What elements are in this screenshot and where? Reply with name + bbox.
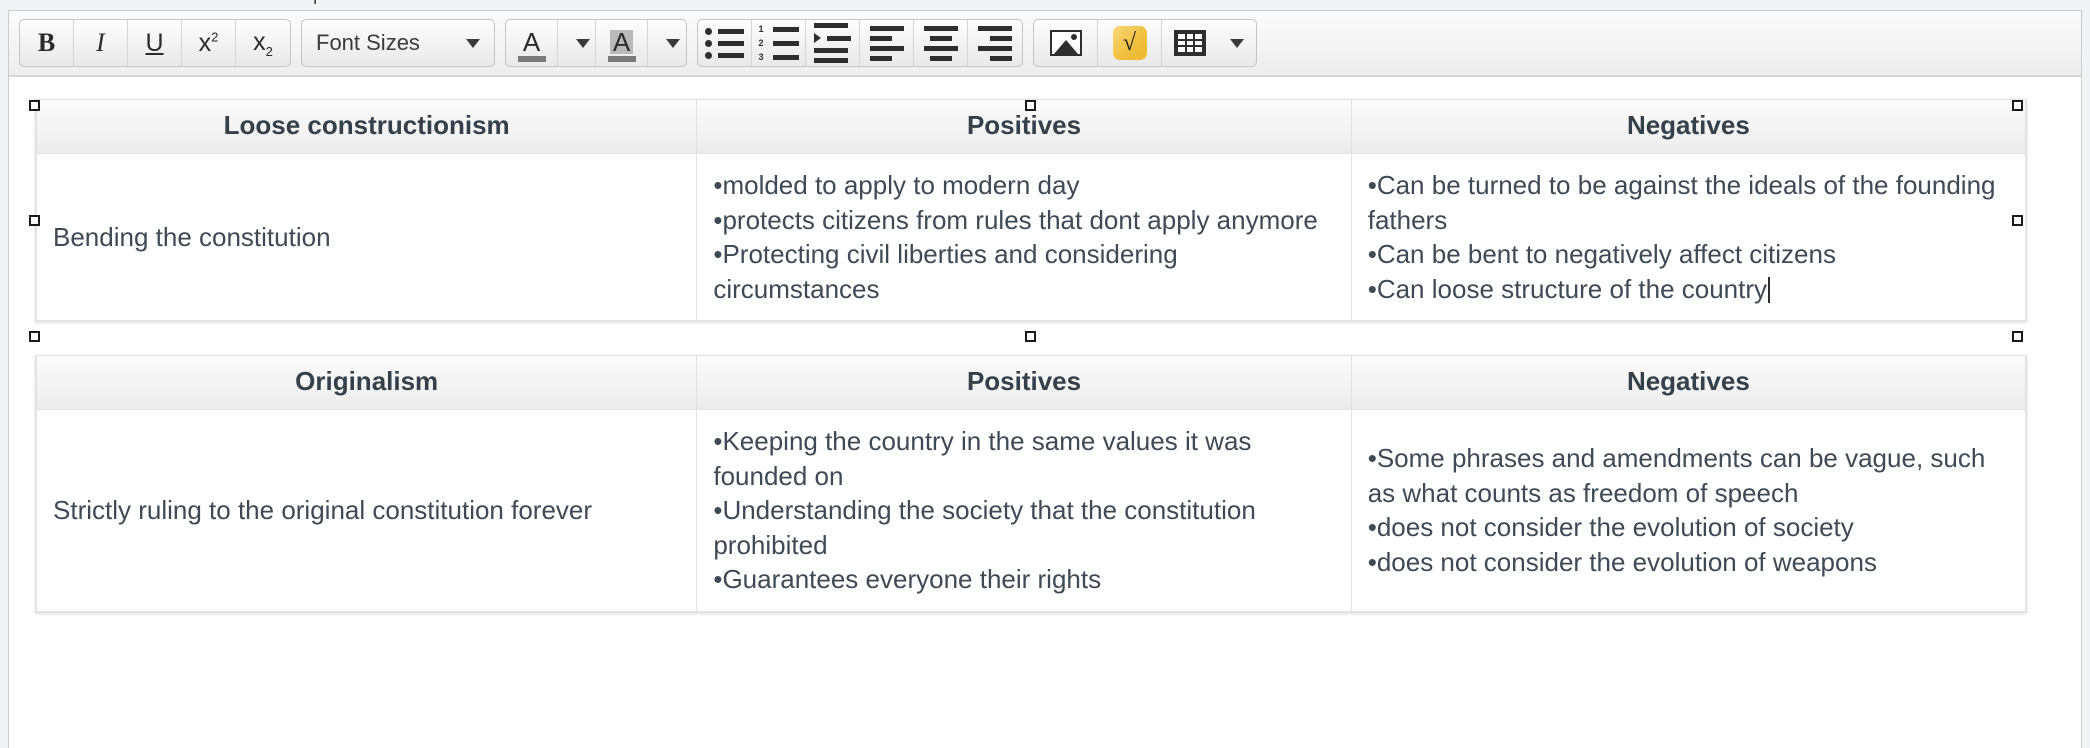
color-group: A A — [505, 19, 687, 67]
numbered-list-icon: 1 2 3 — [759, 25, 799, 62]
underline-icon: U — [145, 29, 163, 58]
subscript-icon: x2 — [253, 28, 273, 59]
text-color-dropdown[interactable] — [558, 20, 596, 66]
resize-handle-bottom-right[interactable] — [2012, 331, 2023, 342]
table-originalism[interactable]: Originalism Positives Negatives Strictly… — [35, 355, 2027, 613]
resize-handle-top-right[interactable] — [2012, 100, 2023, 111]
table-row: Bending the constitution •molded to appl… — [37, 154, 2026, 321]
indent-button[interactable] — [806, 20, 860, 66]
superscript-button[interactable]: x2 — [182, 20, 236, 66]
menu-item-help[interactable]: Help — [286, 0, 323, 5]
highlight-color-dropdown[interactable] — [648, 20, 686, 66]
bold-button[interactable]: B — [20, 20, 74, 66]
column-header-negatives[interactable]: Negatives — [1351, 100, 2025, 154]
numbered-list-button[interactable]: 1 2 3 — [752, 20, 806, 66]
resize-handle-top-left[interactable] — [29, 100, 40, 111]
table-icon — [1174, 30, 1206, 56]
insert-group: √ — [1033, 19, 1257, 67]
chevron-down-icon — [466, 39, 480, 48]
insert-table-button[interactable] — [1162, 20, 1256, 66]
menu-bar-clipped: Format Tools Table Help — [0, 0, 2090, 10]
image-icon — [1050, 30, 1082, 56]
superscript-icon: x2 — [199, 29, 219, 58]
indent-icon — [814, 23, 851, 63]
column-header-positives[interactable]: Positives — [697, 356, 1351, 410]
underline-button[interactable]: U — [128, 20, 182, 66]
editor-frame: B I U x2 x2 Font Sizes — [8, 10, 2082, 748]
align-right-button[interactable] — [968, 20, 1022, 66]
formatting-toolbar: B I U x2 x2 Font Sizes — [9, 11, 2081, 77]
highlight-color-icon: A — [610, 30, 633, 55]
text-color-button[interactable]: A — [506, 20, 558, 66]
menu-item-format[interactable]: Format — [18, 0, 75, 5]
menu-item-table[interactable]: Table — [201, 0, 244, 5]
resize-handle-middle-right[interactable] — [2012, 215, 2023, 226]
menu-item-tools[interactable]: Tools — [117, 0, 159, 5]
insert-equation-button[interactable]: √ — [1098, 20, 1162, 66]
chevron-down-icon — [666, 39, 680, 48]
cell-term[interactable]: Bending the constitution — [37, 154, 697, 321]
subscript-button[interactable]: x2 — [236, 20, 290, 66]
align-left-icon — [870, 26, 904, 61]
italic-icon: I — [96, 28, 105, 58]
document-editor-app: Format Tools Table Help B I U x2 — [0, 0, 2090, 748]
text-cursor — [1768, 277, 1770, 303]
cell-positives[interactable]: •molded to apply to modern day •protects… — [697, 154, 1351, 321]
cell-negatives[interactable]: •Can be turned to be against the ideals … — [1351, 154, 2025, 321]
resize-handle-bottom-left[interactable] — [29, 331, 40, 342]
align-center-icon — [924, 26, 958, 61]
align-left-button[interactable] — [860, 20, 914, 66]
font-sizes-label: Font Sizes — [316, 30, 420, 56]
bullet-list-icon — [705, 28, 744, 59]
align-right-icon — [978, 26, 1012, 61]
cell-positives[interactable]: •Keeping the country in the same values … — [697, 410, 1351, 612]
table-header-row: Originalism Positives Negatives — [37, 356, 2026, 410]
text-style-group: B I U x2 x2 — [19, 19, 291, 67]
font-sizes-dropdown[interactable]: Font Sizes — [302, 20, 494, 66]
cell-term[interactable]: Strictly ruling to the original constitu… — [37, 410, 697, 612]
bold-icon: B — [38, 28, 55, 58]
paragraph-group: 1 2 3 — [697, 19, 1023, 67]
font-size-group: Font Sizes — [301, 19, 495, 67]
cell-negatives[interactable]: •Some phrases and amendments can be vagu… — [1351, 410, 2025, 612]
highlight-color-swatch — [608, 56, 636, 62]
text-color-swatch — [518, 56, 546, 62]
insert-image-button[interactable] — [1034, 20, 1098, 66]
column-header-negatives[interactable]: Negatives — [1351, 356, 2025, 410]
align-center-button[interactable] — [914, 20, 968, 66]
chevron-down-icon — [1230, 39, 1244, 48]
resize-handle-top-center[interactable] — [1025, 100, 1036, 111]
text-color-icon: A — [523, 30, 540, 55]
table-row: Strictly ruling to the original constitu… — [37, 410, 2026, 612]
resize-handle-middle-left[interactable] — [29, 215, 40, 226]
column-header-term[interactable]: Loose constructionism — [37, 100, 697, 154]
highlight-color-button[interactable]: A — [596, 20, 648, 66]
square-root-icon: √ — [1113, 26, 1147, 60]
document-canvas[interactable]: Loose constructionism Positives Negative… — [9, 77, 2081, 747]
resize-handle-bottom-center[interactable] — [1025, 331, 1036, 342]
italic-button[interactable]: I — [74, 20, 128, 66]
bullet-list-button[interactable] — [698, 20, 752, 66]
table-loose-constructionism[interactable]: Loose constructionism Positives Negative… — [35, 99, 2027, 322]
column-header-term[interactable]: Originalism — [37, 356, 697, 410]
chevron-down-icon — [576, 39, 590, 48]
